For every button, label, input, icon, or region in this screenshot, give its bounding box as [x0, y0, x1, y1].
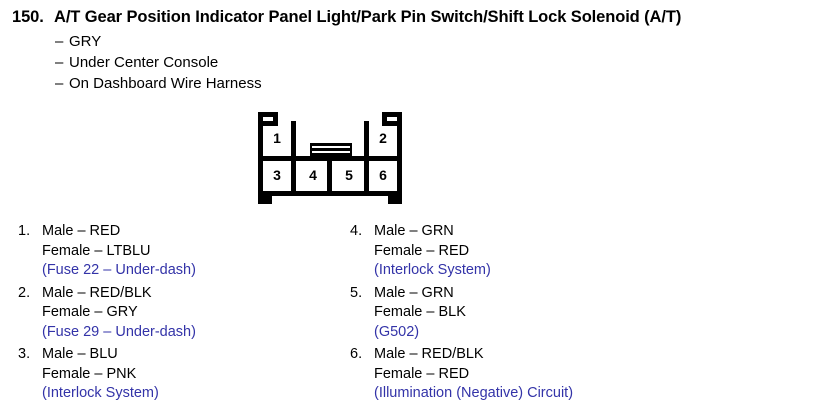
dash-glyph: –	[55, 75, 69, 92]
pin-male-row: 2.Male – RED/BLK	[18, 284, 196, 304]
pin-circuit-reference[interactable]: (Interlock System)	[42, 385, 159, 401]
pin-circuit-row: (Interlock System)	[18, 384, 196, 404]
pin-female-row: Female – BLK	[350, 303, 573, 323]
pin-entry-6: 6.Male – RED/BLK Female – RED (Illuminat…	[350, 345, 573, 404]
pin-circuit-reference[interactable]: (Fuse 22 – Under-dash)	[42, 262, 196, 278]
subline-text: Under Center Console	[69, 54, 218, 71]
connector-pin-label-1: 1	[269, 130, 285, 146]
pin-circuit-row: (Illumination (Negative) Circuit)	[350, 384, 573, 404]
pin-list-right-column: 4.Male – GRN Female – RED (Interlock Sys…	[350, 222, 573, 407]
connector-divider-cell2	[364, 121, 369, 156]
pin-female-row: Female – PNK	[18, 365, 196, 385]
connector-pin-label-6: 6	[375, 167, 391, 183]
pin-male-wire: Male – GRN	[374, 223, 454, 239]
pin-number: 5.	[350, 284, 374, 304]
pin-female-row: Female – GRY	[18, 303, 196, 323]
pin-female-wire: Female – RED	[374, 366, 469, 382]
header-subline-location: –Under Center Console	[55, 54, 218, 71]
pin-entry-5: 5.Male – GRN Female – BLK (G502)	[350, 284, 573, 343]
pin-circuit-row: (G502)	[350, 323, 573, 343]
pin-female-wire: Female – GRY	[42, 304, 138, 320]
pin-circuit-row: (Fuse 22 – Under-dash)	[18, 261, 196, 281]
connector-pin-label-2: 2	[375, 130, 391, 146]
connector-pin-label-3: 3	[269, 167, 285, 183]
pin-number: 4.	[350, 222, 374, 242]
pin-male-row: 5.Male – GRN	[350, 284, 573, 304]
pin-female-row: Female – RED	[350, 242, 573, 262]
subline-text: GRY	[69, 33, 101, 50]
dash-glyph: –	[55, 33, 69, 50]
pin-male-row: 1.Male – RED	[18, 222, 196, 242]
connector-divider-bottom-3	[364, 161, 369, 192]
header-subline-harness: –On Dashboard Wire Harness	[55, 75, 262, 92]
latch-slot-upper	[312, 146, 350, 148]
pin-entry-1: 1.Male – RED Female – LTBLU (Fuse 22 – U…	[18, 222, 196, 281]
pin-number: 3.	[18, 345, 42, 365]
pin-male-row: 4.Male – GRN	[350, 222, 573, 242]
dash-glyph: –	[55, 54, 69, 71]
pin-male-row: 3.Male – BLU	[18, 345, 196, 365]
page-title: 150.A/T Gear Position Indicator Panel Li…	[12, 8, 808, 27]
connector-pin-label-5: 5	[341, 167, 357, 183]
pin-female-row: Female – RED	[350, 365, 573, 385]
connector-diagram: 1 2 3 4 5 6	[258, 112, 402, 204]
pin-number: 2.	[18, 284, 42, 304]
pin-number: 1.	[18, 222, 42, 242]
pin-male-wire: Male – GRN	[374, 285, 454, 301]
pin-female-wire: Female – LTBLU	[42, 243, 151, 259]
pin-number: 6.	[350, 345, 374, 365]
pin-male-row: 6.Male – RED/BLK	[350, 345, 573, 365]
pin-entry-4: 4.Male – GRN Female – RED (Interlock Sys…	[350, 222, 573, 281]
connector-bottom-edge	[258, 191, 402, 196]
pin-circuit-reference[interactable]: (G502)	[374, 324, 419, 340]
pin-male-wire: Male – RED	[42, 223, 120, 239]
pin-circuit-row: (Fuse 29 – Under-dash)	[18, 323, 196, 343]
connector-latch-tab	[310, 143, 352, 156]
pin-circuit-reference[interactable]: (Fuse 29 – Under-dash)	[42, 324, 196, 340]
pin-male-wire: Male – RED/BLK	[374, 346, 484, 362]
pin-circuit-row: (Interlock System)	[350, 261, 573, 281]
pin-male-wire: Male – BLU	[42, 346, 118, 362]
connector-divider-bottom-1	[291, 161, 296, 192]
pin-entry-2: 2.Male – RED/BLK Female – GRY (Fuse 29 –…	[18, 284, 196, 343]
pin-circuit-reference[interactable]: (Illumination (Negative) Circuit)	[374, 385, 573, 401]
pin-female-wire: Female – RED	[374, 243, 469, 259]
subline-text: On Dashboard Wire Harness	[69, 75, 262, 92]
connector-divider-bottom-2	[327, 161, 332, 192]
pin-female-wire: Female – BLK	[374, 304, 466, 320]
latch-slot-lower	[312, 151, 350, 153]
connector-divider-cell1	[291, 121, 296, 156]
pin-list-left-column: 1.Male – RED Female – LTBLU (Fuse 22 – U…	[18, 222, 196, 407]
entry-number: 150.	[12, 8, 54, 27]
pin-female-wire: Female – PNK	[42, 366, 136, 382]
header-subline-connector-color: –GRY	[55, 33, 101, 50]
pin-female-row: Female – LTBLU	[18, 242, 196, 262]
connector-pin-label-4: 4	[305, 167, 321, 183]
entry-title: A/T Gear Position Indicator Panel Light/…	[54, 8, 681, 26]
pin-circuit-reference[interactable]: (Interlock System)	[374, 262, 491, 278]
pin-male-wire: Male – RED/BLK	[42, 285, 152, 301]
connector-bottom-right-tab	[388, 191, 402, 204]
pin-entry-3: 3.Male – BLU Female – PNK (Interlock Sys…	[18, 345, 196, 404]
connector-bottom-left-tab	[258, 191, 272, 204]
